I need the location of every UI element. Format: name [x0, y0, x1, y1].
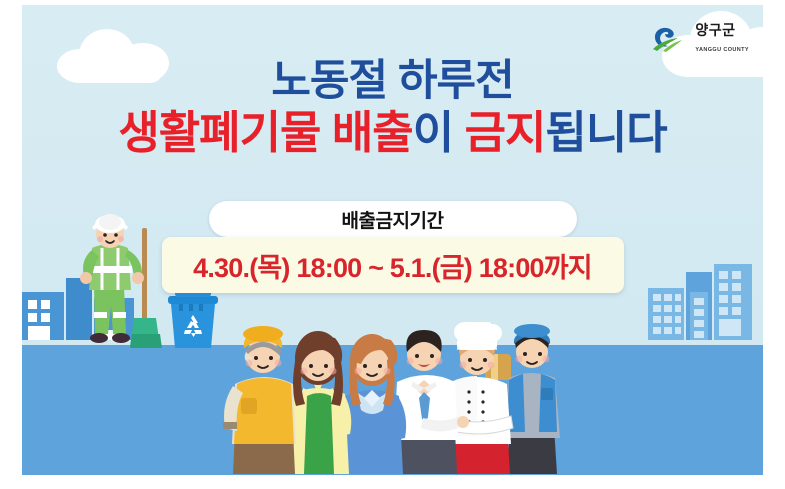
- headline-seg-2: [453, 107, 465, 158]
- period-value-text: 4.30.(목) 18:00 ~ 5.1.(금) 18:00까지: [193, 246, 592, 285]
- construction-worker: [223, 326, 296, 474]
- period-label-text: 배출금지기간: [342, 206, 444, 233]
- period-value-box: 4.30.(목) 18:00 ~ 5.1.(금) 18:00까지: [162, 237, 624, 293]
- sanitation-worker-illustration: [72, 212, 168, 357]
- headline-block: 노동절 하루전 생활폐기물 배출이 금지됩니다: [22, 57, 763, 159]
- skyline-right: [638, 258, 763, 345]
- logo-name-en: YANGGU COUNTY: [695, 47, 749, 53]
- poster-root: 양구군 YANGGU COUNTY 노동절 하루전 생활폐기물 배출이 금지됩니…: [0, 0, 785, 489]
- bird-leaf-emblem-icon: [651, 24, 689, 54]
- poster-canvas: 양구군 YANGGU COUNTY 노동절 하루전 생활폐기물 배출이 금지됩니…: [22, 5, 763, 475]
- headline-seg-0: 생활폐기물 배출: [118, 107, 412, 158]
- headline-seg-1: 이: [413, 107, 453, 158]
- apron-woman: [284, 331, 350, 474]
- recycling-bin-illustration: [165, 288, 221, 355]
- worker-group-illustration: [217, 322, 569, 475]
- logo-name-ko: 양구군: [695, 22, 735, 38]
- period-label-pill: 배출금지기간: [209, 201, 577, 237]
- yanggu-county-logo: 양구군 YANGGU COUNTY: [651, 23, 749, 55]
- logo-wordmark: 양구군 YANGGU COUNTY: [695, 23, 749, 55]
- headline-line-1: 노동절 하루전: [22, 57, 763, 105]
- headline-line-2: 생활폐기물 배출이 금지됩니다: [22, 108, 763, 158]
- headline-seg-4: 됩니다: [545, 107, 666, 158]
- headline-seg-3: 금지: [465, 107, 546, 158]
